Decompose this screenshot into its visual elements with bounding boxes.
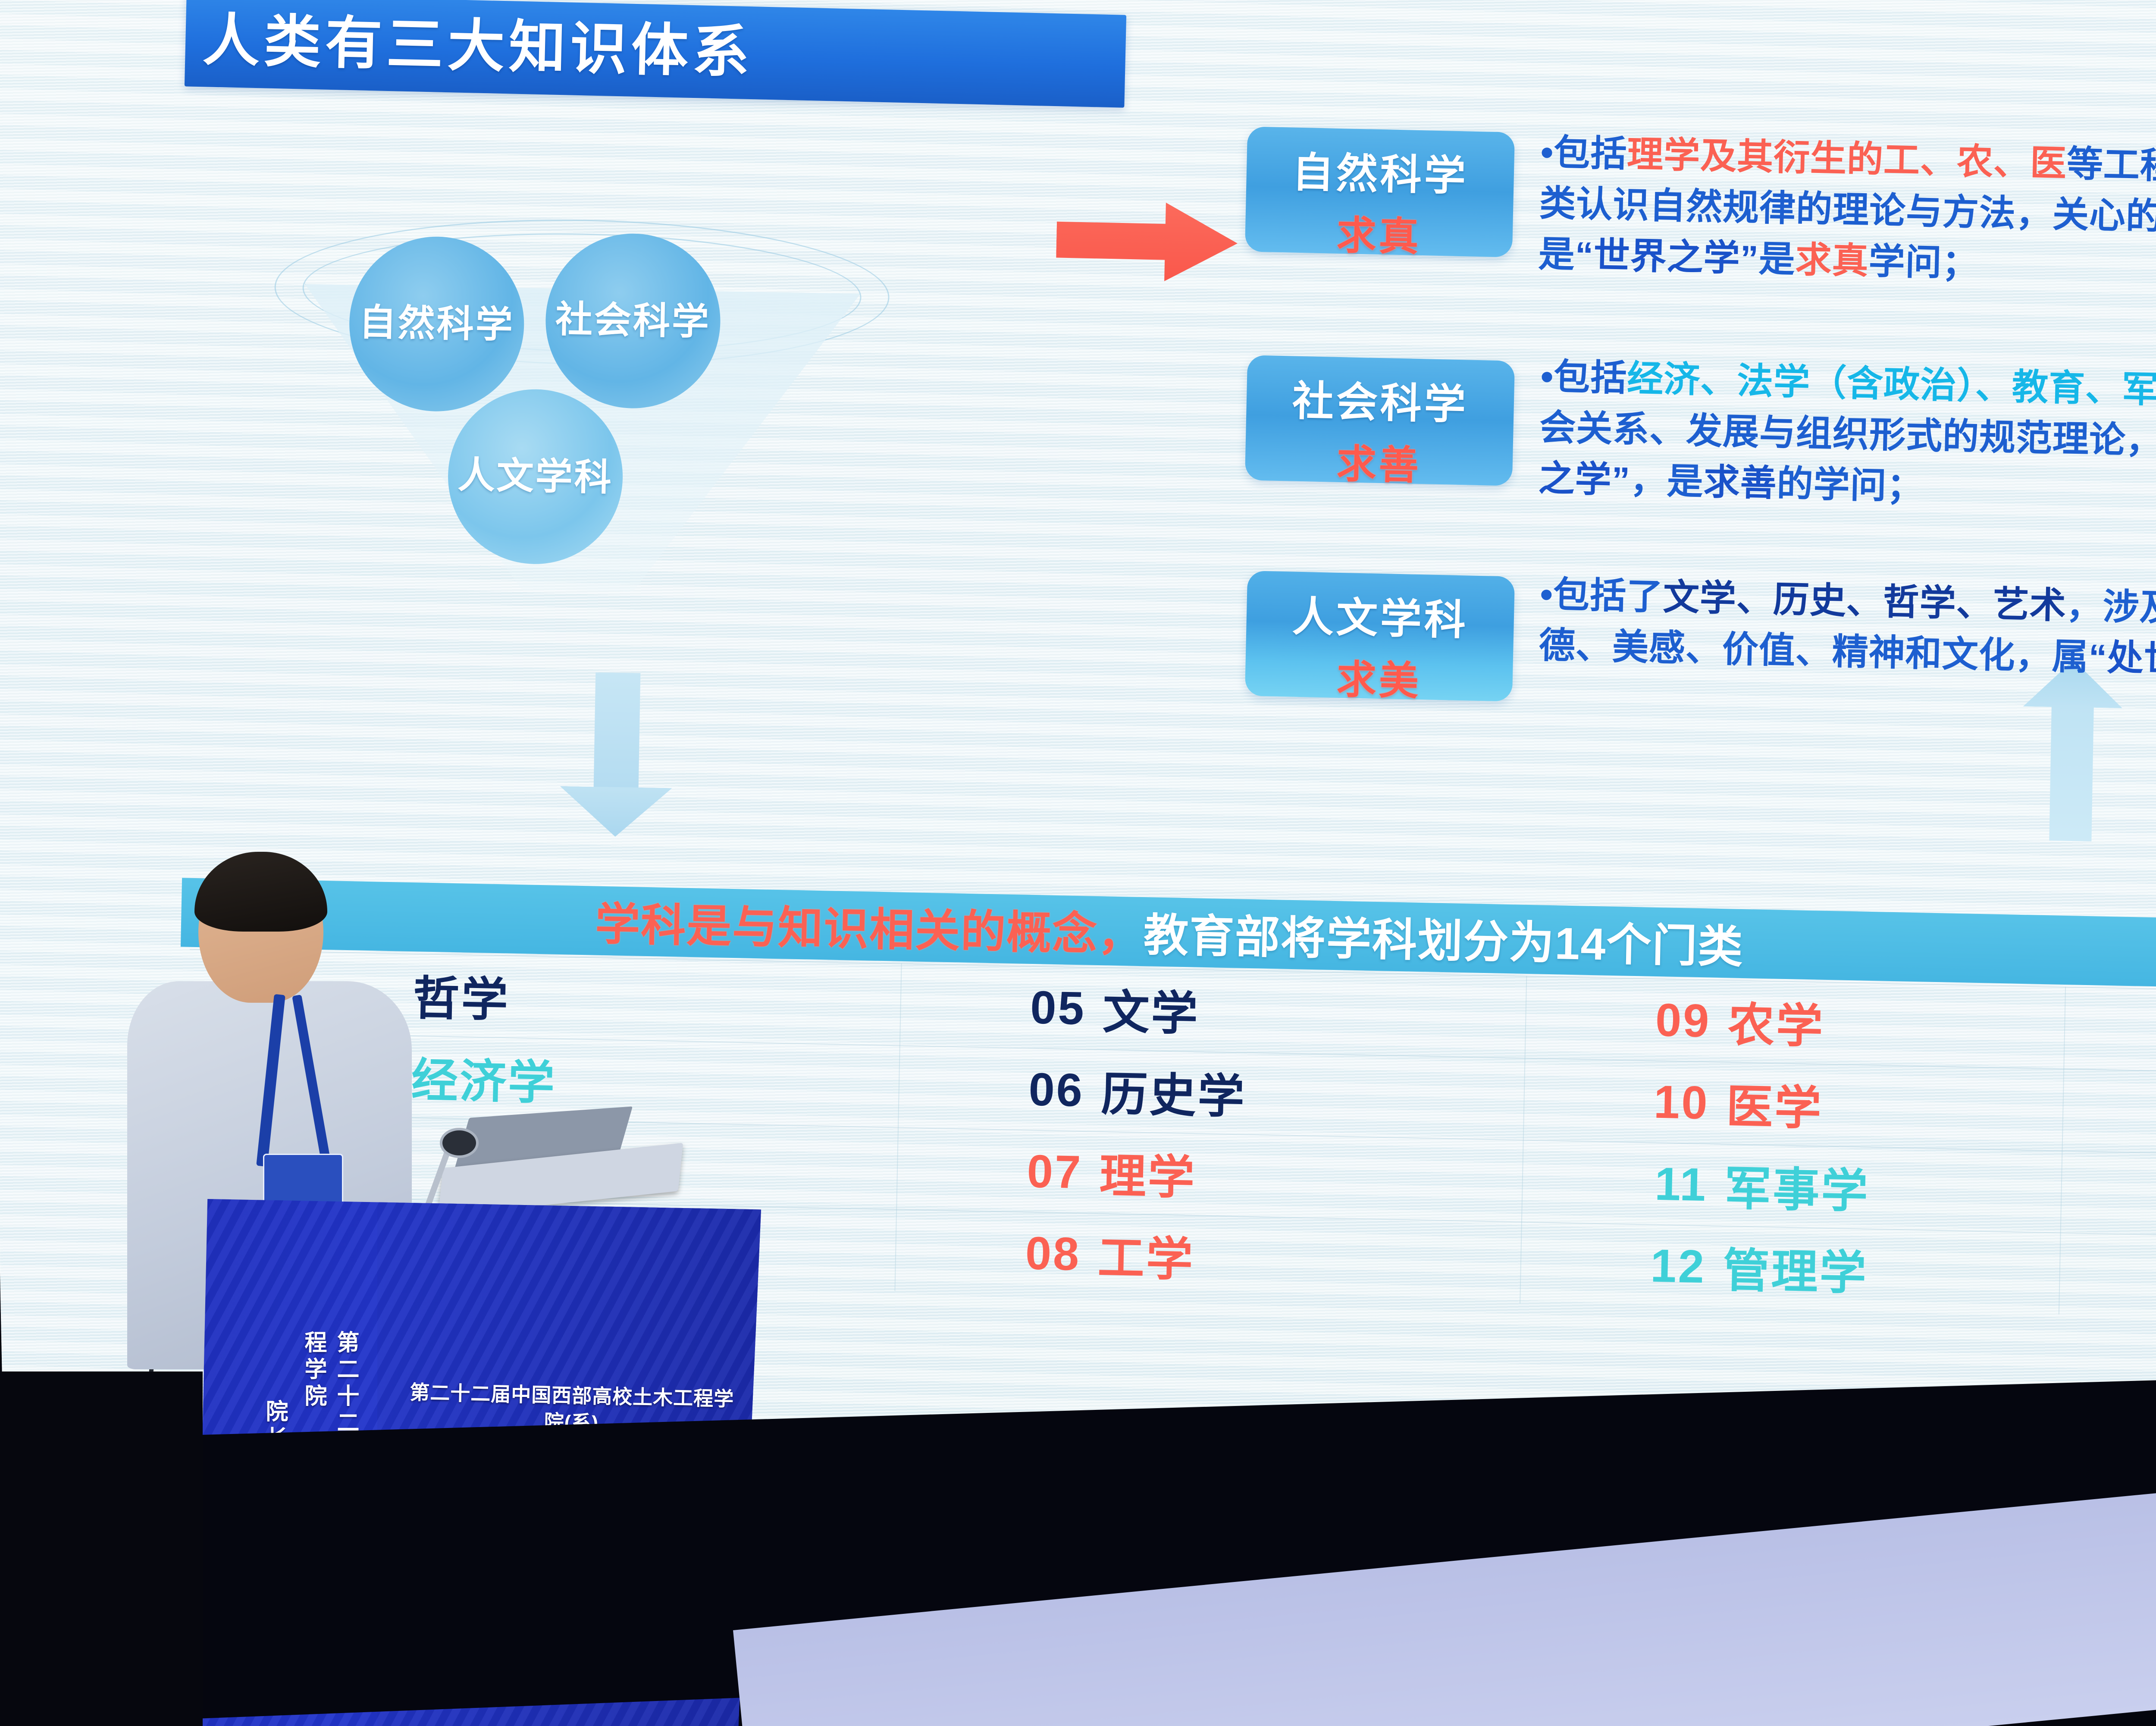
cell-num: 13 <box>2119 988 2156 1072</box>
down-arrow-shaft <box>594 672 641 790</box>
chip-humanities-name: 人文学科 <box>1246 582 1515 647</box>
para1-quote: “世界之学” <box>1575 234 1759 279</box>
cell-name: 工学 <box>1097 1213 1487 1303</box>
cell-name: 军事学 <box>1724 1144 2114 1233</box>
chip-natural-science-motto: 求真 <box>1245 201 1514 264</box>
cell-name: 哲学 <box>412 954 802 1043</box>
cell-name: 医学 <box>1726 1062 2115 1152</box>
cell-num: 07 <box>952 1128 1083 1213</box>
chip-natural-science: 自然科学 求真 <box>1245 126 1515 257</box>
cell-name: 理学 <box>1099 1131 1489 1221</box>
para1-tailpre: 是 <box>1758 239 1796 280</box>
speaker-hair <box>194 852 327 932</box>
up-arrow-icon <box>2021 659 2123 842</box>
cell-num: 06 <box>954 1046 1085 1131</box>
cell-num: 09 <box>1581 977 1712 1061</box>
section-banner-white: 教育部将学科划分为14个门类 <box>1143 910 1744 973</box>
para3-lead: 包括了 <box>1553 574 1664 617</box>
chip-social-science: 社会科学 求善 <box>1245 355 1515 486</box>
para2-tailpre: ，是 <box>1630 460 1704 502</box>
para1-tail-highlight: 求真 <box>1795 239 1869 282</box>
presentation-photo: 人类有三大知识体系 自然科学 社会科学 人文学科 自然科学 求真 社会科学 求善… <box>0 0 2156 1726</box>
bullet-dot-3: • <box>1540 574 1554 615</box>
para2-lead: 包括 <box>1553 356 1627 399</box>
para1-tail: 学问； <box>1868 241 1979 284</box>
up-arrow-shaft <box>2049 705 2093 841</box>
bullet-dot-2: • <box>1540 356 1554 397</box>
section-banner-red: 学科是与知识相关的概念， <box>595 899 1144 960</box>
speaker-badge <box>263 1154 343 1208</box>
para1-lead: 包括 <box>1553 132 1627 174</box>
down-arrow-head <box>559 786 672 838</box>
cell-name: 历史学 <box>1100 1049 1490 1139</box>
bullet-dot-1: • <box>1540 132 1554 173</box>
chip-natural-science-name: 自然科学 <box>1246 138 1515 203</box>
para1-highlight: 理学及其衍生的工、农、医 <box>1626 134 2067 184</box>
down-arrow-icon <box>559 672 674 838</box>
para3-quote: “处世之学” <box>2088 637 2156 681</box>
microphone-head-icon <box>440 1128 479 1158</box>
cell-name: 农学 <box>1727 980 2117 1070</box>
cell-name: 文学 <box>1102 967 1492 1057</box>
chip-humanities: 人文学科 求美 <box>1245 571 1515 701</box>
cell-num: 12 <box>1576 1223 1707 1307</box>
cell-num: 05 <box>956 964 1087 1049</box>
cell-num: 08 <box>950 1210 1081 1295</box>
chip-humanities-motto: 求美 <box>1245 645 1514 708</box>
knowledge-funnel-diagram: 自然科学 社会科学 人文学科 <box>237 201 944 709</box>
cell-num: 11 <box>1577 1141 1708 1225</box>
para2-tail-highlight: 求善 <box>1703 461 1777 504</box>
para2-highlight: 经济、法学（含政治）、教育、军事、管理学科 <box>1626 358 2156 415</box>
chip-social-science-motto: 求善 <box>1245 430 1514 493</box>
para3-highlight: 文学、历史、哲学、艺术 <box>1663 577 2067 626</box>
cell-num: 14 <box>2118 1070 2156 1154</box>
cell-num: 10 <box>1579 1059 1710 1143</box>
cell-name: 管理学 <box>1722 1226 2112 1315</box>
paragraph-social-science: •包括经济、法学（含政治）、教育、军事、管理学科涉及人类社会关系、发展与组织形式… <box>1538 351 2156 527</box>
para2-tail: 的学问； <box>1777 463 1924 507</box>
chip-social-science-name: 社会科学 <box>1246 366 1515 432</box>
left-dark-region <box>0 1371 203 1726</box>
paragraph-natural-science: •包括理学及其衍生的工、农、医等工程技术等学科门类。涉及人类认识自然规律的理论与… <box>1538 127 2156 302</box>
